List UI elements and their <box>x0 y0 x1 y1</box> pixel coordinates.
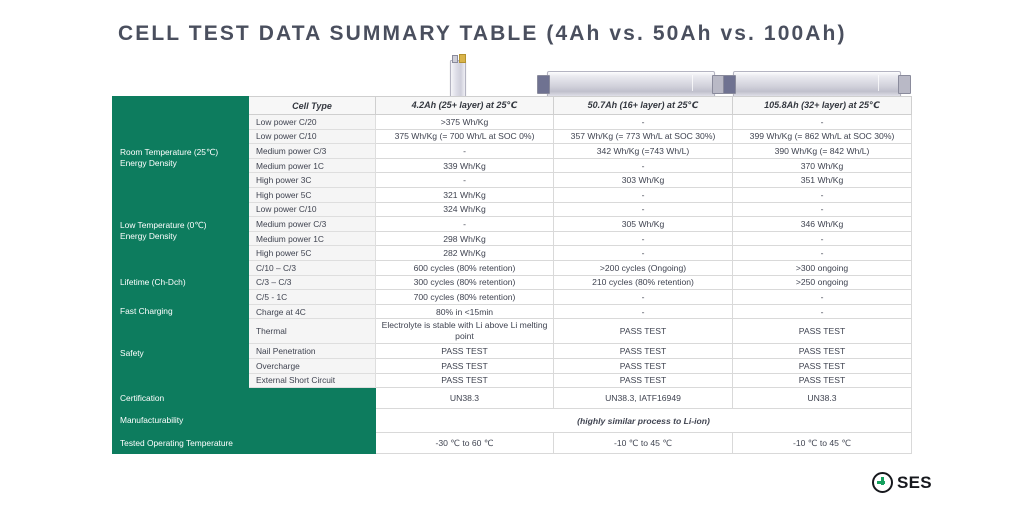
cell-tab-positive-icon <box>459 54 466 63</box>
group-label-1: Low Temperature (0℃)Energy Density <box>113 202 249 260</box>
value-42ah: -30 ℃ to 60 ℃ <box>376 433 554 454</box>
value-1058ah: 351 Wh/Kg <box>733 173 912 188</box>
value-42ah: - <box>376 173 554 188</box>
table-row: Fast ChargingCharge at 4C80% in <15min-- <box>113 304 912 319</box>
value-507ah: - <box>554 246 733 261</box>
value-507ah: PASS TEST <box>554 373 733 388</box>
header-group-cell <box>113 97 249 115</box>
cell-seam <box>878 75 879 91</box>
value-507ah: - <box>554 158 733 173</box>
value-1058ah: - <box>733 304 912 319</box>
row-sub-label: C/10 – C/3 <box>249 260 376 275</box>
value-42ah: 339 Wh/Kg <box>376 158 554 173</box>
value-1058ah: 346 Wh/Kg <box>733 217 912 232</box>
value-507ah: 210 cycles (80% retention) <box>554 275 733 290</box>
header-cell-type: Cell Type <box>249 97 376 115</box>
value-42ah: 80% in <15min <box>376 304 554 319</box>
row-sub-label: External Short Circuit <box>249 373 376 388</box>
value-1058ah: -10 ℃ to 45 ℃ <box>733 433 912 454</box>
value-1058ah: - <box>733 187 912 202</box>
group-label-0: Room Temperature (25℃)Energy Density <box>113 115 249 203</box>
value-507ah: 357 Wh/Kg (= 773 Wh/L at SOC 30%) <box>554 129 733 144</box>
table-row: Tested Operating Temperature-30 ℃ to 60 … <box>113 433 912 454</box>
cell-tab-negative-icon <box>723 75 736 94</box>
table-row: Manufacturability(highly similar process… <box>113 409 912 433</box>
row-sub-label: Medium power 1C <box>249 231 376 246</box>
row-sub-label: High power 5C <box>249 246 376 261</box>
value-1058ah: 399 Wh/Kg (= 862 Wh/L at SOC 30%) <box>733 129 912 144</box>
row-sub-label: Charge at 4C <box>249 304 376 319</box>
value-507ah: 303 Wh/Kg <box>554 173 733 188</box>
value-1058ah: PASS TEST <box>733 358 912 373</box>
value-42ah: 282 Wh/Kg <box>376 246 554 261</box>
value-42ah: 700 cycles (80% retention) <box>376 290 554 305</box>
row-sub-label: High power 5C <box>249 187 376 202</box>
value-1058ah: 390 Wh/Kg (= 842 Wh/L) <box>733 144 912 159</box>
header-col-1058ah: 105.8Ah (32+ layer) at 25℃ <box>733 97 912 115</box>
table-body: Cell Type4.2Ah (25+ layer) at 25℃50.7Ah … <box>113 97 912 454</box>
row-sub-label: Nail Penetration <box>249 344 376 359</box>
row-sub-label: Low power C/10 <box>249 129 376 144</box>
table-header-row: Cell Type4.2Ah (25+ layer) at 25℃50.7Ah … <box>113 97 912 115</box>
value-1058ah: >300 ongoing <box>733 260 912 275</box>
row-sub-label: Medium power C/3 <box>249 217 376 232</box>
header-col-42ah: 4.2Ah (25+ layer) at 25℃ <box>376 97 554 115</box>
value-507ah: >200 cycles (Ongoing) <box>554 260 733 275</box>
value-42ah: 375 Wh/Kg (= 700 Wh/L at SOC 0%) <box>376 129 554 144</box>
table-row: Lifetime (Ch-Dch)C/10 – C/3600 cycles (8… <box>113 260 912 275</box>
value-42ah: - <box>376 144 554 159</box>
value-1058ah: PASS TEST <box>733 373 912 388</box>
footer-label-2: Tested Operating Temperature <box>113 433 376 454</box>
value-1058ah: >250 ongoing <box>733 275 912 290</box>
slide-root: CELL TEST DATA SUMMARY TABLE (4Ah vs. 50… <box>0 0 1024 512</box>
cell-test-data-table: Cell Type4.2Ah (25+ layer) at 25℃50.7Ah … <box>112 96 912 454</box>
cell-tab-negative-icon <box>452 55 458 63</box>
cell-photo-4ah <box>450 60 466 98</box>
value-507ah: PASS TEST <box>554 319 733 344</box>
value-507ah: - <box>554 304 733 319</box>
group-label-2: Lifetime (Ch-Dch) <box>113 260 249 304</box>
table-row: CertificationUN38.3UN38.3, IATF16949UN38… <box>113 388 912 409</box>
value-42ah: 324 Wh/Kg <box>376 202 554 217</box>
value-42ah: 298 Wh/Kg <box>376 231 554 246</box>
value-42ah: 321 Wh/Kg <box>376 187 554 202</box>
cell-seam <box>692 75 693 91</box>
value-1058ah: UN38.3 <box>733 388 912 409</box>
value-42ah: 600 cycles (80% retention) <box>376 260 554 275</box>
cell-photo-strip <box>375 52 911 98</box>
row-sub-label: Medium power C/3 <box>249 144 376 159</box>
value-507ah: 305 Wh/Kg <box>554 217 733 232</box>
logo-text: SES <box>897 473 932 493</box>
footer-label-0: Certification <box>113 388 376 409</box>
value-1058ah: - <box>733 115 912 130</box>
value-42ah: Electrolyte is stable with Li above Li m… <box>376 319 554 344</box>
row-sub-label: Thermal <box>249 319 376 344</box>
value-1058ah: - <box>733 290 912 305</box>
value-1058ah: PASS TEST <box>733 344 912 359</box>
value-507ah: PASS TEST <box>554 358 733 373</box>
value-42ah: - <box>376 217 554 232</box>
value-507ah: - <box>554 290 733 305</box>
value-42ah: >375 Wh/Kg <box>376 115 554 130</box>
header-col-507ah: 50.7Ah (16+ layer) at 25℃ <box>554 97 733 115</box>
row-sub-label: High power 3C <box>249 173 376 188</box>
group-label-4: Safety <box>113 319 249 388</box>
value-507ah: - <box>554 115 733 130</box>
value-42ah: PASS TEST <box>376 344 554 359</box>
row-sub-label: Medium power 1C <box>249 158 376 173</box>
footer-merged-value: (highly similar process to Li-ion) <box>376 409 912 433</box>
footer-label-1: Manufacturability <box>113 409 376 433</box>
value-1058ah: PASS TEST <box>733 319 912 344</box>
table-row: Low Temperature (0℃)Energy DensityLow po… <box>113 202 912 217</box>
value-507ah: -10 ℃ to 45 ℃ <box>554 433 733 454</box>
value-507ah: - <box>554 187 733 202</box>
value-507ah: UN38.3, IATF16949 <box>554 388 733 409</box>
row-sub-label: C/5 - 1C <box>249 290 376 305</box>
value-1058ah: 370 Wh/Kg <box>733 158 912 173</box>
row-sub-label: Low power C/10 <box>249 202 376 217</box>
value-507ah: - <box>554 202 733 217</box>
row-sub-label: Low power C/20 <box>249 115 376 130</box>
value-1058ah: - <box>733 246 912 261</box>
value-1058ah: - <box>733 231 912 246</box>
value-507ah: PASS TEST <box>554 344 733 359</box>
value-42ah: PASS TEST <box>376 358 554 373</box>
table-row: SafetyThermalElectrolyte is stable with … <box>113 319 912 344</box>
cell-photo-50ah <box>547 71 715 98</box>
row-sub-label: Overcharge <box>249 358 376 373</box>
value-42ah: PASS TEST <box>376 373 554 388</box>
cell-photo-100ah <box>733 71 901 98</box>
value-507ah: - <box>554 231 733 246</box>
row-sub-label: C/3 – C/3 <box>249 275 376 290</box>
cell-tab-negative-icon <box>537 75 550 94</box>
cell-tab-positive-icon <box>898 75 911 94</box>
value-1058ah: - <box>733 202 912 217</box>
page-title: CELL TEST DATA SUMMARY TABLE (4Ah vs. 50… <box>118 22 847 46</box>
group-label-3: Fast Charging <box>113 304 249 319</box>
value-42ah: 300 cycles (80% retention) <box>376 275 554 290</box>
ses-logo: SES <box>872 472 932 493</box>
plus-in-circle-icon <box>872 472 893 493</box>
value-42ah: UN38.3 <box>376 388 554 409</box>
value-507ah: 342 Wh/Kg (=743 Wh/L) <box>554 144 733 159</box>
table-row: Room Temperature (25℃)Energy DensityLow … <box>113 115 912 130</box>
